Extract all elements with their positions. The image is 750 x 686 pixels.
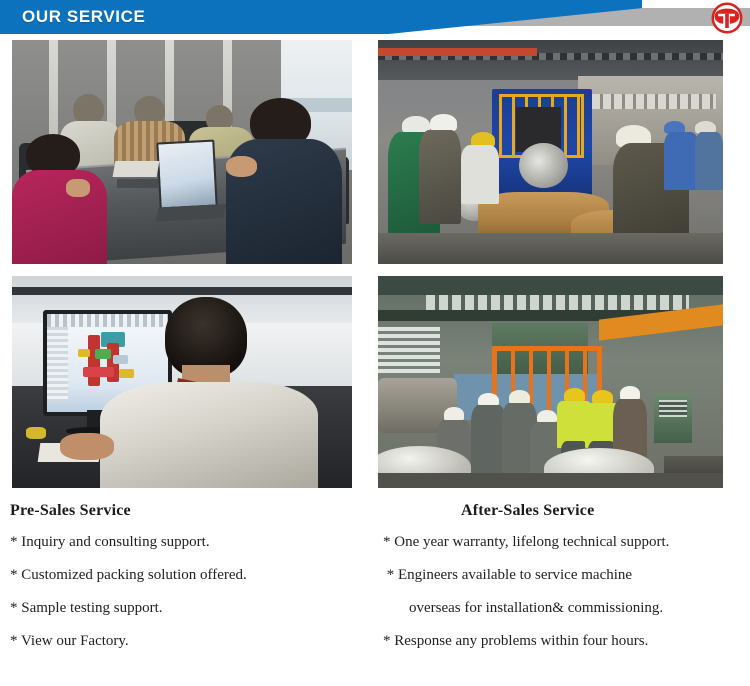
pre-sales-item: * Sample testing support. <box>10 600 375 617</box>
pre-sales-item: * Customized packing solution offered. <box>10 567 375 584</box>
page-title: OUR SERVICE <box>22 6 145 28</box>
page-header-banner: OUR SERVICE <box>0 0 750 36</box>
after-sales-item: * Engineers available to service machine <box>383 567 750 584</box>
service-descriptions: Pre-Sales Service * Inquiry and consulti… <box>0 502 750 666</box>
installation-team-photo <box>378 276 723 488</box>
pre-sales-heading: Pre-Sales Service <box>10 502 375 520</box>
factory-coil-handling-photo <box>378 40 723 264</box>
pre-sales-column: Pre-Sales Service * Inquiry and consulti… <box>0 502 375 666</box>
pre-sales-item: * View our Factory. <box>10 633 375 650</box>
after-sales-heading: After-Sales Service <box>383 502 750 520</box>
pre-sales-item: * Inquiry and consulting support. <box>10 534 375 551</box>
after-sales-column: After-Sales Service * One year warranty,… <box>375 502 750 666</box>
cad-design-engineer-photo <box>12 276 352 488</box>
pre-sales-meeting-photo <box>12 40 352 264</box>
service-image-gallery <box>0 40 750 488</box>
after-sales-item: * One year warranty, lifelong technical … <box>383 534 750 551</box>
company-logo-icon <box>710 1 744 35</box>
after-sales-item: overseas for installation& commissioning… <box>383 600 750 617</box>
after-sales-item: * Response any problems within four hour… <box>383 633 750 650</box>
